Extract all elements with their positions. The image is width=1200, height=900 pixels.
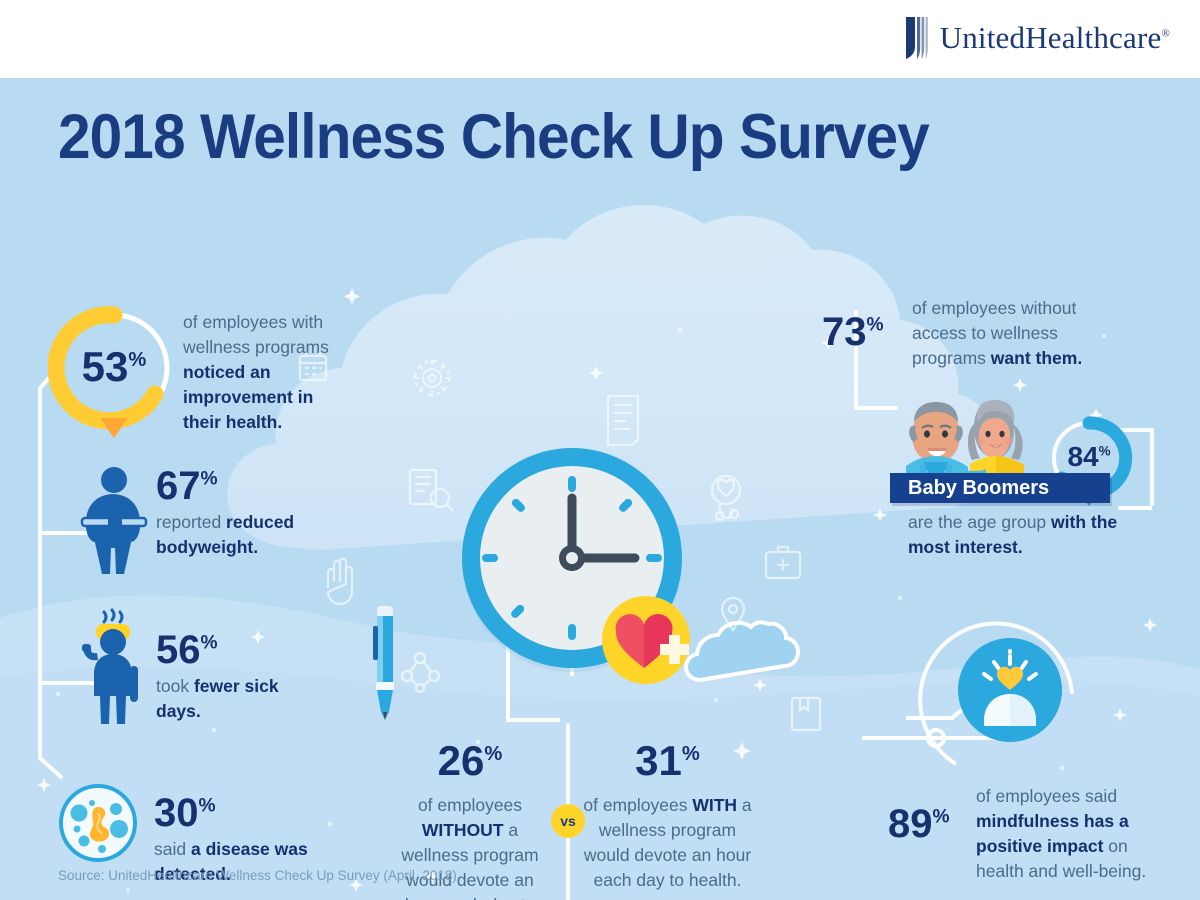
heart-plus-icon [600,594,692,686]
body-measure-icon [78,466,156,583]
stat-baby-boomers-value: 84% [1044,443,1134,471]
stat-mindfulness-value: 89% [888,804,950,844]
small-cloud-icon [686,622,798,680]
stat-sick-days-body: 56% took fewer sick days. [156,630,316,724]
mindfulness-person-icon [956,636,1064,744]
brand-logo: UnitedHealthcare® [904,16,1170,60]
page-title: 2018 Wellness Check Up Survey [58,106,929,169]
comparison-with: 31% of employees WITH a wellness program… [580,740,755,893]
stat-improvement-ring: 53% [48,306,180,438]
stat-improvement-text: of employees with wellness programs noti… [183,310,353,435]
stat-bodyweight-body: 67% reported reduced bodyweight. [156,466,306,560]
pen-icon [368,600,402,722]
comparison-without-text: of employees WITHOUT a wellness program … [390,793,550,900]
baby-boomers-banner: Baby Boomers [890,473,1110,503]
comparison-with-value: 31% [580,740,755,782]
stat-sick-days-text: took fewer sick days. [156,674,316,724]
infographic-canvas: 2018 Wellness Check Up Survey 53% of emp… [0,78,1200,900]
brand-name: UnitedHealthcare® [940,20,1170,56]
baby-boomers-label: Baby Boomers [908,477,1049,500]
sick-person-icon [78,606,154,731]
petri-dish-icon [58,783,138,868]
stat-baby-boomers-text: are the age group with the most interest… [908,510,1143,560]
stat-disease-value: 30% [154,793,334,833]
header-bar: UnitedHealthcare® [0,0,1200,78]
comparison-without-value: 26% [390,740,550,782]
stat-bodyweight-text: reported reduced bodyweight. [156,510,306,560]
unitedhealthcare-shield-icon [904,16,930,60]
infographic-page: UnitedHealthcare® [0,0,1200,900]
source-note: Source: UnitedHealthcare Wellness Check … [58,868,457,883]
stat-want-programs-text: of employees without access to wellness … [912,296,1127,371]
comparison-with-text: of employees WITH a wellness program wou… [580,793,755,893]
stat-improvement-value: 53% [48,346,180,388]
medical-bag-icon [766,547,800,578]
vs-label: vs [560,813,576,829]
stat-mindfulness-text: of employees said mindfulness has a posi… [976,784,1166,884]
hand-icon [328,559,352,604]
stat-sick-days-value: 56% [156,630,316,670]
stat-want-programs-value: 73% [822,312,884,352]
stat-bodyweight-value: 67% [156,466,306,506]
